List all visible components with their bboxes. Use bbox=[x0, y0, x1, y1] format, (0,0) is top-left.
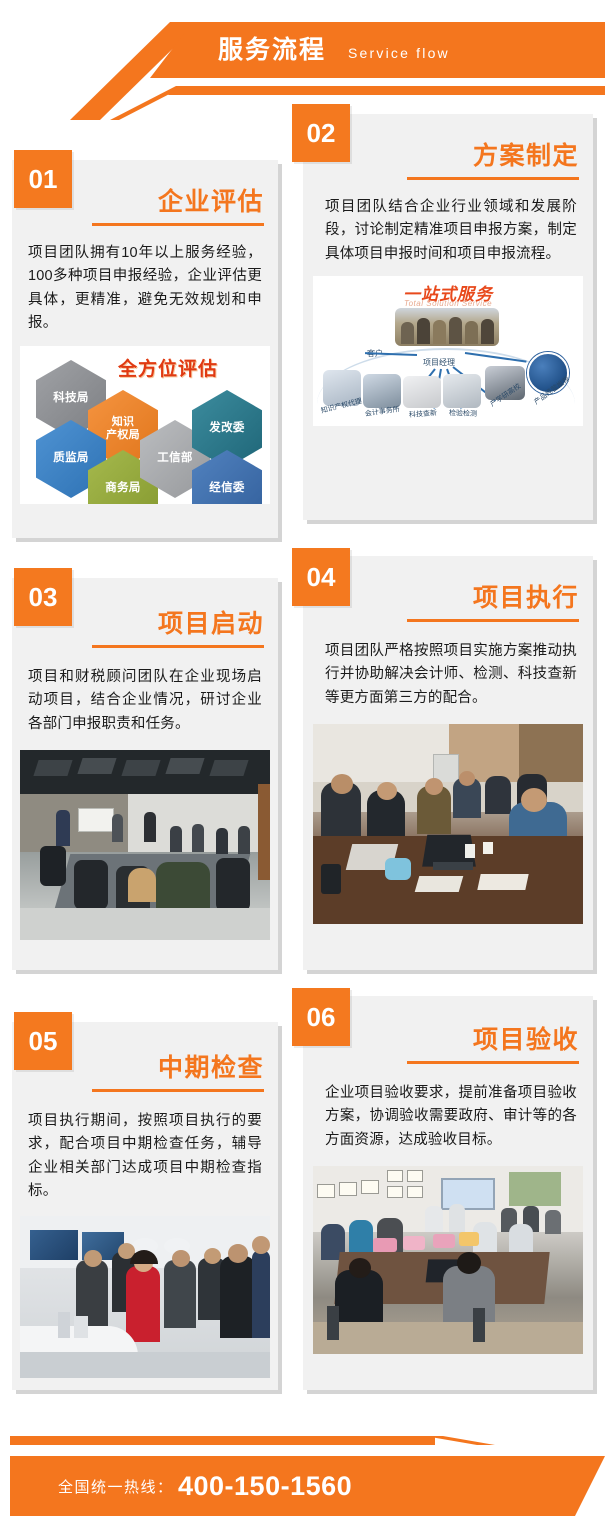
card-body-01: 项目团队拥有10年以上服务经验，100多种项目申报经验，企业评估更具体，更精准，… bbox=[28, 242, 262, 336]
step-card-03: 项目启动 项目和财税顾问团队在企业现场启动项目，结合企业情况，研讨企业各部门申报… bbox=[12, 578, 278, 970]
card-body-02: 项目团队结合企业行业领域和发展阶段，讨论制定精准项目申报方案，制定具体项目申报时… bbox=[325, 196, 577, 266]
step-number-badge-01: 01 bbox=[14, 150, 72, 208]
card-body-03: 项目和财税顾问团队在企业现场启动项目，结合企业情况，研讨企业各部门申报职责和任务… bbox=[28, 666, 262, 736]
card-body-05: 项目执行期间，按照项目执行的要求，配合项目中期检查任务，辅导企业相关部门达成项目… bbox=[28, 1110, 262, 1204]
step-number-badge-03: 03 bbox=[14, 568, 72, 626]
photo-showroom-inspection-tour bbox=[20, 1216, 270, 1378]
page-footer: 全国统一热线： 400-150-1560 bbox=[0, 1398, 605, 1538]
step-card-02: 方案制定 项目团队结合企业行业领域和发展阶段，讨论制定精准项目申报方案，制定具体… bbox=[303, 114, 593, 520]
one-stop-service-diagram: 一站式服务 Total Solution Service 客户 项目经理 知识产… bbox=[313, 276, 583, 426]
page-title: 服务流程 bbox=[218, 28, 326, 72]
one-stop-leaf-label-4: 检验检测 bbox=[449, 408, 477, 419]
step-card-05: 中期检查 项目执行期间，按照项目执行的要求，配合项目中期检查任务，辅导企业相关部… bbox=[12, 1022, 278, 1390]
hexagon-diagram-title: 全方位评估 bbox=[118, 354, 218, 381]
one-stop-leaf-label-3: 科技查新 bbox=[409, 409, 438, 421]
one-stop-node-manager: 项目经理 bbox=[423, 357, 455, 368]
photo-execution-working-session bbox=[313, 724, 583, 924]
title-underline-03 bbox=[92, 645, 264, 648]
one-stop-leaf-photo-2 bbox=[363, 374, 401, 408]
one-stop-center-photo bbox=[395, 308, 499, 346]
title-underline-05 bbox=[92, 1089, 264, 1092]
assessment-hexagon-diagram: 全方位评估 科技局 知识 产权局 质监局 商务局 工信部 发改委 经信委 bbox=[20, 346, 270, 504]
title-underline-02 bbox=[407, 177, 579, 180]
title-underline-04 bbox=[407, 619, 579, 622]
footer-accent-stripe bbox=[10, 1436, 435, 1445]
page-subtitle: Service flow bbox=[348, 34, 450, 72]
header-accent-stripe bbox=[168, 86, 605, 95]
one-stop-leaf-photo-3 bbox=[403, 376, 441, 408]
step-number-badge-06: 06 bbox=[292, 988, 350, 1046]
one-stop-leaf-photo-4 bbox=[443, 374, 481, 408]
step-card-06: 项目验收 企业项目验收要求，提前准备项目验收方案，协调验收需要政府、审计等的各方… bbox=[303, 996, 593, 1390]
photo-acceptance-review-meeting bbox=[313, 1166, 583, 1354]
hotline-number[interactable]: 400-150-1560 bbox=[178, 1456, 352, 1516]
step-number-badge-02: 02 bbox=[292, 104, 350, 162]
footer-band-head bbox=[430, 1456, 605, 1516]
step-card-04: 项目执行 项目团队严格按照项目实施方案推动执行并协助解决会计师、检测、科技查新等… bbox=[303, 556, 593, 970]
step-card-01: 企业评估 项目团队拥有10年以上服务经验，100多种项目申报经验，企业评估更具体… bbox=[12, 160, 278, 538]
step-number-badge-05: 05 bbox=[14, 1012, 72, 1070]
card-body-06: 企业项目验收要求，提前准备项目验收方案，协调验收需要政府、审计等的各方面资源，达… bbox=[325, 1082, 577, 1152]
title-underline-01 bbox=[92, 223, 264, 226]
one-stop-subtitle: Total Solution Service bbox=[313, 299, 583, 308]
step-number-badge-04: 04 bbox=[292, 548, 350, 606]
title-underline-06 bbox=[407, 1061, 579, 1064]
card-body-04: 项目团队严格按照项目实施方案推动执行并协助解决会计师、检测、科技查新等更方面第三… bbox=[325, 640, 577, 710]
page-header: 服务流程 Service flow bbox=[0, 0, 605, 120]
photo-kickoff-meeting bbox=[20, 750, 270, 940]
hotline-label: 全国统一热线： bbox=[58, 1456, 174, 1516]
